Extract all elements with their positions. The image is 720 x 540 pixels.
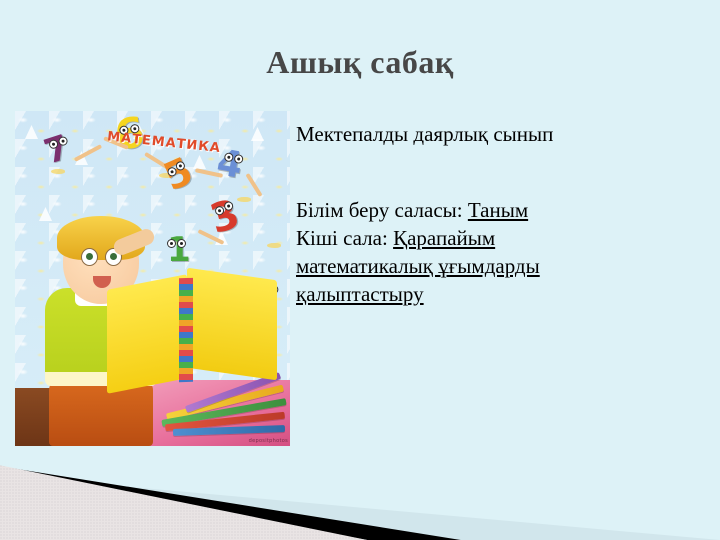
- slide-title: Ашық сабақ: [0, 44, 720, 81]
- subarea-label: Кіші сала:: [296, 226, 388, 250]
- book-spine: [179, 278, 193, 382]
- subarea-value-part-1: Қарапайым: [393, 226, 495, 250]
- image-watermark: depositphotos: [249, 438, 288, 444]
- book-page-right: [187, 268, 277, 381]
- subarea-line-2: математикалық ұғымдарды: [296, 252, 696, 280]
- slide-canvas: Ашық сабақ 7 6: [0, 0, 720, 540]
- decoration-band-blue: [0, 450, 720, 540]
- subarea-value-part-2: математикалық ұғымдарды: [296, 254, 540, 278]
- education-area-label: Білім беру саласы:: [296, 198, 463, 222]
- slide-subtitle: Мектепалды даярлық сынып: [296, 122, 553, 147]
- decoration-band-gray: [0, 450, 720, 540]
- education-area-line: Білім беру саласы: Таным: [296, 196, 696, 224]
- subarea-line-3: қалыптастыру: [296, 280, 696, 308]
- education-area-value: Таным: [468, 198, 528, 222]
- boy-eye-left: [81, 248, 98, 266]
- wallpaper-fish-icon: [267, 243, 281, 248]
- book-page-left: [107, 274, 187, 394]
- bottom-decoration: [0, 450, 720, 540]
- decoration-band-black: [0, 450, 720, 540]
- wallpaper-fish-icon: [237, 197, 251, 202]
- math-book: [107, 274, 277, 386]
- boy-pants: [49, 380, 153, 446]
- subarea-line-1: Кіші сала: Қарапайым: [296, 224, 696, 252]
- subarea-value-part-3: қалыптастыру: [296, 282, 424, 306]
- lesson-details: Білім беру саласы: Таным Кіші сала: Қара…: [296, 196, 696, 308]
- lesson-illustration: 7 6 5 4 3 1: [15, 111, 290, 446]
